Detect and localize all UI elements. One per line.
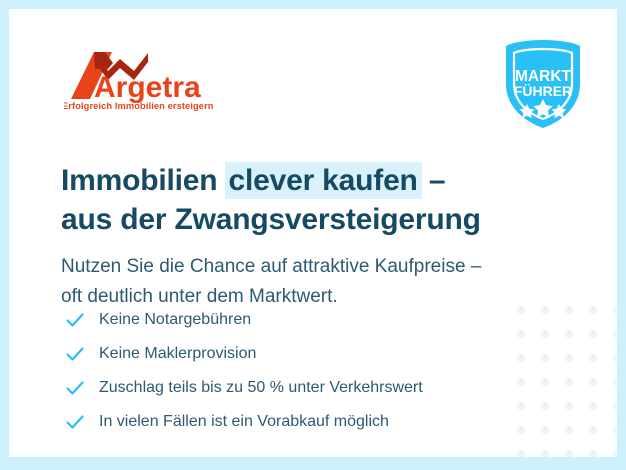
benefit-label: In vielen Fällen ist ein Vorabkauf mögli… (99, 412, 389, 432)
dot (613, 426, 617, 434)
list-item: Keine Notargebühren (65, 305, 423, 335)
benefit-label: Zuschlag teils bis zu 50 % unter Verkehr… (99, 378, 423, 398)
dot (589, 402, 597, 410)
check-icon (65, 310, 85, 330)
dot (613, 354, 617, 362)
dot (613, 378, 617, 386)
logo-wordmark: Argetra (94, 71, 201, 104)
benefits-list: Keine Notargebühren Keine Maklerprovisio… (65, 305, 423, 437)
dot (613, 330, 617, 338)
dot (565, 378, 573, 386)
logo-tagline: Erfolgreich Immobilien ersteigern (64, 101, 214, 111)
dot (589, 378, 597, 386)
dot (589, 306, 597, 314)
market-leader-badge[interactable]: MARKT FÜHRER (498, 38, 588, 130)
dot (517, 426, 525, 434)
frame-bottom (0, 457, 626, 470)
banner-canvas: Argetra Erfolgreich Immobilien ersteiger… (9, 9, 617, 457)
subheading: Nutzen Sie die Chance auf attraktive Kau… (61, 252, 481, 312)
dot (541, 402, 549, 410)
dot (541, 426, 549, 434)
dot (517, 378, 525, 386)
benefit-label: Keine Notargebühren (99, 310, 251, 330)
dot (613, 450, 617, 457)
page-title: Immobilien clever kaufen – aus der Zwang… (61, 161, 481, 239)
frame-left (0, 0, 9, 470)
check-icon (65, 412, 85, 432)
frame-right (617, 0, 626, 470)
dot (517, 354, 525, 362)
dot (541, 354, 549, 362)
dot (565, 354, 573, 362)
dot (589, 426, 597, 434)
benefit-label: Keine Maklerprovision (99, 344, 256, 364)
frame-top (0, 0, 626, 9)
dot (565, 426, 573, 434)
promo-banner: Argetra Erfolgreich Immobilien ersteiger… (0, 0, 626, 470)
dot (589, 354, 597, 362)
dot (517, 330, 525, 338)
list-item: In vielen Fällen ist ein Vorabkauf mögli… (65, 407, 423, 437)
dot (541, 306, 549, 314)
headline-part1: Immobilien (61, 164, 226, 197)
dot (565, 306, 573, 314)
dot (565, 450, 573, 457)
dot (589, 330, 597, 338)
dot (541, 450, 549, 457)
argetra-logo[interactable]: Argetra Erfolgreich Immobilien ersteiger… (64, 49, 214, 111)
list-item: Keine Maklerprovision (65, 339, 423, 369)
dot (517, 450, 525, 457)
dot-grid-pattern (517, 306, 617, 457)
dot (589, 450, 597, 457)
dot (541, 330, 549, 338)
headline-line2: aus der Zwangsversteigerung (61, 200, 481, 239)
dot (565, 330, 573, 338)
dot (613, 402, 617, 410)
dot (541, 378, 549, 386)
check-icon (65, 378, 85, 398)
dot (613, 306, 617, 314)
dot (517, 306, 525, 314)
dot (565, 402, 573, 410)
headline-part2: – (421, 164, 446, 197)
check-icon (65, 344, 85, 364)
dot (517, 402, 525, 410)
list-item: Zuschlag teils bis zu 50 % unter Verkehr… (65, 373, 423, 403)
headline-highlight: clever kaufen (225, 162, 422, 199)
badge-line2: FÜHRER (514, 83, 572, 99)
subheading-line1: Nutzen Sie die Chance auf attraktive Kau… (61, 252, 481, 282)
